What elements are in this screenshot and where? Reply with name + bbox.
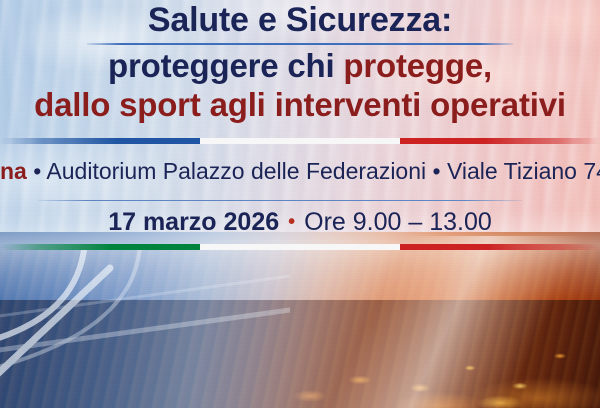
- divider-segment-white: [200, 138, 400, 144]
- italian-tricolor-divider: [0, 244, 600, 250]
- event-hours: Ore 9.00 – 13.00: [304, 208, 492, 236]
- divider-segment-white: [200, 244, 400, 250]
- venue-city: na: [0, 158, 27, 184]
- poster-content: Salute e Sicurezza: proteggere chi prote…: [0, 0, 600, 408]
- venue-separator-2: •: [433, 158, 441, 184]
- french-tricolor-divider: [0, 138, 600, 144]
- venue-separator-1: •: [33, 158, 41, 184]
- event-date: 17 marzo 2026: [108, 208, 279, 236]
- venue-line: na • Auditorium Palazzo delle Federazion…: [0, 158, 600, 185]
- divider-segment-red: [400, 138, 600, 144]
- schedule-line: 17 marzo 2026•Ore 9.00 – 13.00: [0, 208, 600, 237]
- poster-title-block: Salute e Sicurezza: proteggere chi prote…: [0, 0, 600, 121]
- venue-place: Auditorium Palazzo delle Federazioni: [46, 158, 426, 184]
- title-line-2-navy: proteggere chi: [108, 47, 343, 84]
- title-line-3: dallo sport agli interventi operativi: [0, 88, 600, 121]
- divider-segment-green: [0, 244, 200, 250]
- schedule-bullet: •: [288, 211, 295, 233]
- divider-segment-blue: [0, 138, 200, 144]
- title-line-2: proteggere chi protegge,: [0, 49, 600, 82]
- venue-underline-rule: [38, 200, 522, 201]
- event-poster: Salute e Sicurezza: proteggere chi prote…: [0, 0, 600, 408]
- title-underline-rule: [87, 43, 513, 45]
- title-line-2-red: protegge,: [343, 47, 492, 84]
- venue-address: Viale Tiziano 74: [447, 158, 600, 184]
- title-line-1: Salute e Sicurezza:: [0, 0, 600, 37]
- divider-segment-red: [400, 244, 600, 250]
